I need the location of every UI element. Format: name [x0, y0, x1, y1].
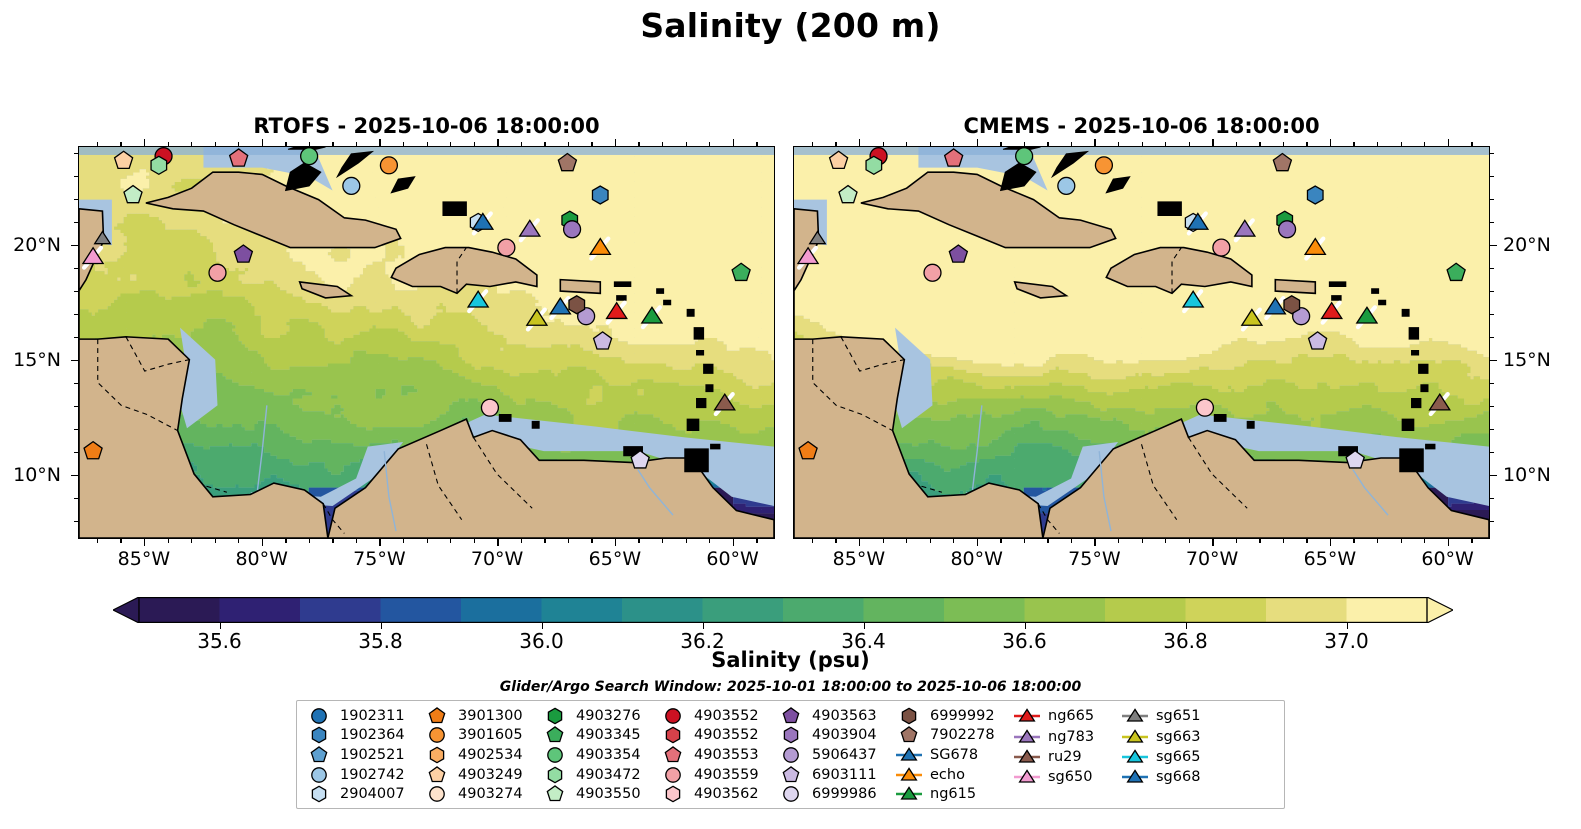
xtick-minor-top — [638, 142, 639, 146]
legend-marker-hexagon-icon — [777, 726, 805, 744]
xtick-minor — [1283, 539, 1284, 543]
legend-marker-pentagon-icon — [777, 766, 805, 784]
ytick-minor — [74, 268, 78, 269]
ytick-minor — [1490, 153, 1494, 154]
legend-marker-triangle-line-icon — [1013, 728, 1041, 746]
legend-item-label: 7902278 — [923, 727, 995, 743]
legend-item-label: 4903354 — [569, 747, 641, 763]
ytick-minor — [1490, 268, 1494, 269]
xtick-minor-top — [1024, 142, 1025, 146]
xtick-major-top — [1330, 139, 1332, 146]
legend-item-label: 6999992 — [923, 708, 995, 724]
legend-marker-triangle-line-icon — [1013, 768, 1041, 786]
legend-marker-circle-icon — [659, 707, 687, 725]
xtick-minor — [1165, 539, 1166, 543]
xtick-major — [379, 539, 381, 546]
legend-item[interactable]: 3901300 — [423, 706, 541, 726]
ytick-major — [71, 360, 78, 362]
xtick-major — [1212, 539, 1214, 546]
legend-column: 4903276 4903345 4903354 4903472 — [541, 706, 659, 804]
xtick-label: 70°W — [1186, 548, 1238, 570]
legend-marker-triangle-line-icon — [1121, 707, 1149, 725]
legend-item[interactable]: sg650 — [1013, 767, 1121, 787]
xtick-label: 65°W — [589, 548, 641, 570]
xtick-minor-top — [427, 142, 428, 146]
legend-item-label: 4903904 — [805, 727, 877, 743]
ytick-label: 10°N — [13, 464, 61, 486]
legend-item[interactable]: sg663 — [1121, 726, 1229, 746]
xtick-minor-top — [1071, 142, 1072, 146]
xtick-minor — [1142, 539, 1143, 543]
xtick-minor-top — [1118, 142, 1119, 146]
xtick-minor-top — [835, 142, 836, 146]
xtick-minor — [1071, 539, 1072, 543]
xtick-minor-top — [906, 142, 907, 146]
legend-item[interactable]: 4903559 — [659, 765, 777, 785]
legend-item-label: 1902364 — [333, 727, 405, 743]
legend-marker-triangle-line-icon — [1121, 768, 1149, 786]
xtick-minor-top — [1165, 142, 1166, 146]
xtick-minor-top — [709, 142, 710, 146]
xtick-minor — [812, 539, 813, 543]
xtick-minor-top — [168, 142, 169, 146]
legend-column: 3901300 3901605 4902534 4903249 — [423, 706, 541, 804]
xtick-minor — [1424, 539, 1425, 543]
xtick-major — [615, 539, 617, 546]
xtick-minor-top — [930, 142, 931, 146]
legend-item[interactable]: ng783 — [1013, 726, 1121, 746]
ytick-minor — [1490, 291, 1494, 292]
xtick-minor-top — [662, 142, 663, 146]
xtick-major — [262, 539, 264, 546]
legend-marker-circle-icon — [305, 707, 333, 725]
legend-item[interactable]: 4903274 — [423, 784, 541, 804]
xtick-minor-top — [332, 142, 333, 146]
xtick-major-top — [859, 139, 861, 146]
xtick-minor — [1259, 539, 1260, 543]
legend-marker-triangle-line-icon — [895, 746, 923, 764]
legend-marker-circle-icon — [659, 766, 687, 784]
xtick-label: 60°W — [706, 548, 758, 570]
xtick-minor — [403, 539, 404, 543]
legend-item[interactable]: 4903552 — [659, 726, 777, 746]
xtick-label: 65°W — [1304, 548, 1356, 570]
ytick-minor — [74, 199, 78, 200]
figure-title: Salinity (200 m) — [0, 6, 1581, 45]
xtick-minor — [686, 539, 687, 543]
xtick-minor — [835, 539, 836, 543]
xtick-major — [497, 539, 499, 546]
legend-item[interactable]: 1902364 — [305, 726, 423, 746]
xtick-minor-top — [1424, 142, 1425, 146]
xtick-minor — [1000, 539, 1001, 543]
xtick-minor-top — [1047, 142, 1048, 146]
legend-item-label: 4903553 — [687, 747, 759, 763]
xtick-minor — [883, 539, 884, 543]
legend-marker-hexagon-icon — [659, 785, 687, 803]
legend-item-label: 4903562 — [687, 786, 759, 802]
panel-title-cmems: CMEMS - 2025-10-06 18:00:00 — [793, 114, 1490, 138]
legend-item-label: SG678 — [923, 747, 978, 763]
colorbar — [113, 597, 1453, 623]
map-panel-rtofs[interactable] — [78, 146, 775, 539]
xtick-minor-top — [812, 142, 813, 146]
ytick-major — [1490, 245, 1497, 247]
xtick-major-top — [1212, 139, 1214, 146]
legend-marker-circle-icon — [305, 766, 333, 784]
legend-item[interactable]: sg668 — [1121, 767, 1229, 787]
xtick-minor-top — [591, 142, 592, 146]
legend-item-label: 3901300 — [451, 708, 523, 724]
legend-item-label: 4903249 — [451, 767, 523, 783]
ytick-minor — [74, 222, 78, 223]
legend-marker-pentagon-icon — [423, 707, 451, 725]
legend-item-label: ng615 — [923, 786, 976, 802]
xtick-minor-top — [1142, 142, 1143, 146]
legend-marker-hexagon-icon — [305, 785, 333, 803]
legend-marker-hexagon-icon — [305, 726, 333, 744]
xtick-major-top — [144, 139, 146, 146]
legend-item[interactable]: 7902278 — [895, 726, 1013, 746]
legend-item[interactable]: 4903345 — [541, 726, 659, 746]
xtick-major-top — [615, 139, 617, 146]
xtick-minor — [1047, 539, 1048, 543]
legend-item[interactable]: sg665 — [1121, 747, 1229, 767]
legend-item[interactable]: 6903111 — [777, 765, 895, 785]
xtick-minor — [521, 539, 522, 543]
legend-item[interactable]: 4903550 — [541, 784, 659, 804]
xtick-minor-top — [1353, 142, 1354, 146]
xtick-minor — [474, 539, 475, 543]
ytick-minor — [1490, 199, 1494, 200]
ytick-major — [1490, 360, 1497, 362]
legend-item[interactable]: 4903904 — [777, 726, 895, 746]
xtick-major-top — [1448, 139, 1450, 146]
xtick-minor-top — [953, 142, 954, 146]
legend-marker-circle-icon — [541, 746, 569, 764]
xtick-major-top — [262, 139, 264, 146]
legend-item-label: 4903345 — [569, 727, 641, 743]
legend-item-label: 4903552 — [687, 708, 759, 724]
xtick-label: 80°W — [235, 548, 287, 570]
ytick-label: 20°N — [13, 234, 61, 256]
legend-item[interactable]: 4903354 — [541, 745, 659, 765]
xtick-label: 70°W — [471, 548, 523, 570]
xtick-minor-top — [1283, 142, 1284, 146]
legend-item[interactable]: 4903563 — [777, 706, 895, 726]
ytick-minor — [1490, 383, 1494, 384]
legend-item-label: ru29 — [1041, 749, 1082, 765]
salinity-field-rtofs — [79, 147, 774, 538]
legend-item[interactable]: 4903553 — [659, 745, 777, 765]
legend-item[interactable]: 4903552 — [659, 706, 777, 726]
xtick-minor-top — [1471, 142, 1472, 146]
legend-marker-hexagon-icon — [659, 726, 687, 744]
salinity-field-cmems — [794, 147, 1489, 538]
xtick-minor-top — [215, 142, 216, 146]
ytick-minor — [1490, 314, 1494, 315]
ytick-minor — [1490, 452, 1494, 453]
legend-item-label: 4903552 — [687, 727, 759, 743]
ytick-minor — [74, 153, 78, 154]
xtick-major — [1094, 539, 1096, 546]
xtick-minor — [953, 539, 954, 543]
legend-item-label: 1902521 — [333, 747, 405, 763]
xtick-label: 75°W — [1068, 548, 1120, 570]
xtick-label: 85°W — [118, 548, 170, 570]
xtick-minor — [168, 539, 169, 543]
xtick-minor — [756, 539, 757, 543]
xtick-minor-top — [238, 142, 239, 146]
xtick-minor-top — [1259, 142, 1260, 146]
legend-item-label: 1902311 — [333, 708, 405, 724]
legend-item[interactable]: 1902311 — [305, 706, 423, 726]
legend-column: 4903552 4903552 4903553 4903559 — [659, 706, 777, 804]
xtick-minor — [591, 539, 592, 543]
legend-item-label: 1902742 — [333, 767, 405, 783]
xtick-minor — [1377, 539, 1378, 543]
legend-item-label: ng665 — [1041, 708, 1094, 724]
xtick-minor — [544, 539, 545, 543]
xtick-minor-top — [309, 142, 310, 146]
ytick-minor — [74, 498, 78, 499]
legend-item-label: ng783 — [1041, 729, 1094, 745]
xtick-minor — [427, 539, 428, 543]
legend-column: ng665 ng783 ru29 — [1013, 706, 1121, 804]
legend-item[interactable]: echo — [895, 765, 1013, 785]
xtick-label: 60°W — [1421, 548, 1473, 570]
xtick-minor-top — [1306, 142, 1307, 146]
xtick-label: 80°W — [950, 548, 1002, 570]
legend-column: sg651 sg663 sg665 — [1121, 706, 1229, 804]
colorbar-label: Salinity (psu) — [0, 648, 1581, 672]
xtick-major-top — [497, 139, 499, 146]
ytick-minor — [1490, 498, 1494, 499]
xtick-minor-top — [1236, 142, 1237, 146]
legend-item[interactable]: 4903276 — [541, 706, 659, 726]
legend-item-label: 4903472 — [569, 767, 641, 783]
xtick-minor — [215, 539, 216, 543]
xtick-minor — [1471, 539, 1472, 543]
legend-box[interactable]: 1902311 1902364 1902521 1902742 — [296, 700, 1285, 809]
legend-marker-hexagon-icon — [541, 766, 569, 784]
legend-item-label: sg650 — [1041, 769, 1092, 785]
legend-item[interactable]: 1902521 — [305, 745, 423, 765]
legend-marker-pentagon-icon — [659, 746, 687, 764]
legend-marker-circle-icon — [777, 746, 805, 764]
xtick-minor — [1024, 539, 1025, 543]
legend-marker-triangle-line-icon — [1013, 748, 1041, 766]
legend-item[interactable]: 4902534 — [423, 745, 541, 765]
ytick-major — [71, 475, 78, 477]
xtick-minor — [191, 539, 192, 543]
xtick-minor — [709, 539, 710, 543]
ytick-minor — [74, 337, 78, 338]
legend-item-label: 4903276 — [569, 708, 641, 724]
xtick-minor — [120, 539, 121, 543]
legend-marker-hexagon-icon — [423, 746, 451, 764]
legend-title: Glider/Argo Search Window: 2025-10-01 18… — [0, 679, 1581, 695]
legend-item-label: 4902534 — [451, 747, 523, 763]
xtick-minor — [1189, 539, 1190, 543]
xtick-minor — [662, 539, 663, 543]
ytick-minor — [1490, 406, 1494, 407]
ytick-minor — [74, 176, 78, 177]
ytick-minor — [1490, 337, 1494, 338]
legend-item[interactable]: 1902742 — [305, 765, 423, 785]
ytick-major — [71, 245, 78, 247]
ytick-minor — [74, 406, 78, 407]
xtick-minor — [930, 539, 931, 543]
legend-item[interactable]: 2904007 — [305, 784, 423, 804]
legend-marker-triangle-line-icon — [1121, 728, 1149, 746]
panel-title-rtofs: RTOFS - 2025-10-06 18:00:00 — [78, 114, 775, 138]
legend-item[interactable]: 6999992 — [895, 706, 1013, 726]
ytick-label: 15°N — [13, 349, 61, 371]
legend-item-label: sg651 — [1149, 708, 1200, 724]
xtick-minor-top — [450, 142, 451, 146]
legend-marker-pentagon-icon — [305, 746, 333, 764]
legend-item-label: 2904007 — [333, 786, 405, 802]
legend-item[interactable]: ng665 — [1013, 706, 1121, 726]
ytick-major — [1490, 475, 1497, 477]
ytick-minor — [74, 452, 78, 453]
xtick-minor-top — [191, 142, 192, 146]
ytick-minor — [1490, 429, 1494, 430]
legend-marker-hexagon-icon — [541, 707, 569, 725]
legend-column: 4903563 4903904 5906437 6903111 — [777, 706, 895, 804]
legend-item[interactable]: 6999986 — [777, 784, 895, 804]
xtick-minor — [356, 539, 357, 543]
xtick-minor-top — [686, 142, 687, 146]
xtick-major-top — [733, 139, 735, 146]
legend-column: 6999992 7902278 SG678 — [895, 706, 1013, 804]
xtick-minor-top — [1000, 142, 1001, 146]
ytick-minor — [74, 383, 78, 384]
xtick-major-top — [977, 139, 979, 146]
xtick-minor — [1236, 539, 1237, 543]
xtick-label: 75°W — [353, 548, 405, 570]
xtick-minor — [309, 539, 310, 543]
legend-item[interactable]: 4903562 — [659, 784, 777, 804]
xtick-major-top — [1094, 139, 1096, 146]
xtick-minor — [238, 539, 239, 543]
xtick-minor-top — [120, 142, 121, 146]
xtick-major — [859, 539, 861, 546]
legend-marker-triangle-line-icon — [895, 766, 923, 784]
xtick-minor — [638, 539, 639, 543]
xtick-minor-top — [474, 142, 475, 146]
ytick-label-right: 15°N — [1503, 349, 1551, 371]
xtick-minor — [450, 539, 451, 543]
legend-item-label: sg665 — [1149, 749, 1200, 765]
xtick-minor — [1353, 539, 1354, 543]
legend-item[interactable]: 5906437 — [777, 745, 895, 765]
legend-column: 1902311 1902364 1902521 1902742 — [305, 706, 423, 804]
legend-item[interactable]: SG678 — [895, 745, 1013, 765]
xtick-minor-top — [544, 142, 545, 146]
xtick-major — [977, 539, 979, 546]
xtick-minor-top — [356, 142, 357, 146]
ytick-minor — [1490, 521, 1494, 522]
legend-item-label: 4903559 — [687, 767, 759, 783]
ytick-minor — [1490, 222, 1494, 223]
legend-item-label: 4903274 — [451, 786, 523, 802]
legend-marker-pentagon-icon — [541, 785, 569, 803]
ytick-minor — [74, 521, 78, 522]
xtick-label: 85°W — [833, 548, 885, 570]
legend-item-label: sg668 — [1149, 769, 1200, 785]
ytick-label-right: 10°N — [1503, 464, 1551, 486]
xtick-minor-top — [1189, 142, 1190, 146]
xtick-minor — [1306, 539, 1307, 543]
legend-marker-circle-icon — [777, 785, 805, 803]
xtick-minor — [332, 539, 333, 543]
legend-marker-pentagon-icon — [541, 726, 569, 744]
legend-item-label: 5906437 — [805, 747, 877, 763]
legend-item[interactable]: sg651 — [1121, 706, 1229, 726]
legend-marker-circle-icon — [423, 726, 451, 744]
legend-marker-triangle-line-icon — [1121, 748, 1149, 766]
legend-item[interactable]: ng615 — [895, 784, 1013, 804]
legend-item-label: sg663 — [1149, 729, 1200, 745]
legend-item-label: 6903111 — [805, 767, 877, 783]
xtick-major-top — [379, 139, 381, 146]
xtick-minor-top — [97, 142, 98, 146]
xtick-minor-top — [756, 142, 757, 146]
map-panel-cmems[interactable] — [793, 146, 1490, 539]
legend-item-label: 6999986 — [805, 786, 877, 802]
ytick-minor — [74, 314, 78, 315]
legend-item[interactable]: 4903472 — [541, 765, 659, 785]
xtick-minor — [97, 539, 98, 543]
legend-marker-pentagon-icon — [895, 726, 923, 744]
legend-marker-circle-icon — [423, 785, 451, 803]
legend-item-label: 3901605 — [451, 727, 523, 743]
xtick-minor — [1118, 539, 1119, 543]
xtick-minor — [1401, 539, 1402, 543]
xtick-minor-top — [403, 142, 404, 146]
legend-item-label: echo — [923, 767, 965, 783]
legend-item[interactable]: ru29 — [1013, 747, 1121, 767]
ytick-label-right: 20°N — [1503, 234, 1551, 256]
ytick-minor — [74, 429, 78, 430]
xtick-minor-top — [285, 142, 286, 146]
xtick-minor-top — [1377, 142, 1378, 146]
legend-marker-pentagon-icon — [777, 707, 805, 725]
legend-item[interactable]: 4903249 — [423, 765, 541, 785]
ytick-minor — [74, 291, 78, 292]
legend-marker-triangle-line-icon — [1013, 707, 1041, 725]
legend-marker-pentagon-icon — [423, 766, 451, 784]
legend-marker-triangle-line-icon — [895, 785, 923, 803]
legend-marker-hexagon-icon — [895, 707, 923, 725]
xtick-major — [733, 539, 735, 546]
xtick-major — [1448, 539, 1450, 546]
xtick-minor — [906, 539, 907, 543]
xtick-minor — [568, 539, 569, 543]
ytick-minor — [1490, 176, 1494, 177]
xtick-minor-top — [521, 142, 522, 146]
legend-item[interactable]: 3901605 — [423, 726, 541, 746]
xtick-major — [144, 539, 146, 546]
xtick-major — [1330, 539, 1332, 546]
xtick-minor-top — [568, 142, 569, 146]
xtick-minor — [285, 539, 286, 543]
legend-item-label: 4903563 — [805, 708, 877, 724]
xtick-minor-top — [1401, 142, 1402, 146]
legend-item-label: 4903550 — [569, 786, 641, 802]
